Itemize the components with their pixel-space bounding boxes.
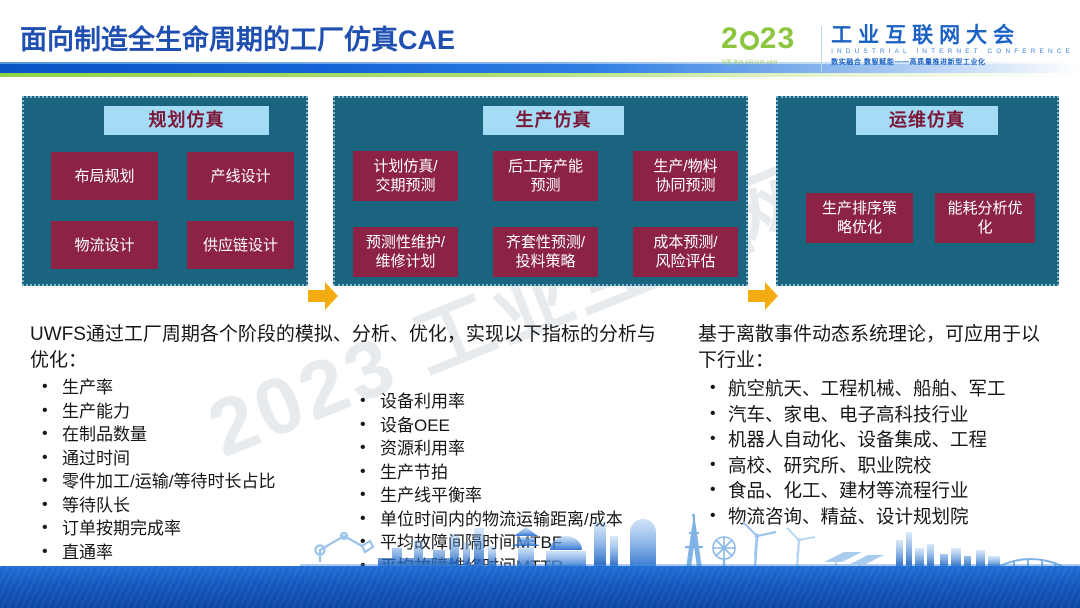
logo-name-block: 工业互联网大会 INDUSTRIAL INTERNET CONFERENCE 数… xyxy=(831,24,1074,68)
robot-arm-icon xyxy=(316,533,374,562)
panel-cell: 供应链设计 xyxy=(187,221,294,269)
panel-title: 规划仿真 xyxy=(104,106,269,135)
industries-lead: 基于离散事件动态系统理论，可应用于以下行业： xyxy=(698,322,1058,374)
list-item: 设备利用率 xyxy=(348,390,688,414)
list-item: 生产能力 xyxy=(30,400,360,424)
list-item: 机器人自动化、设备集成、工程 xyxy=(698,427,1058,453)
arch-tower-icon xyxy=(630,519,656,568)
slide-root: 面向制造全生命周期的工厂仿真CAE 223 中国·苏州 6月16日-18日 工业… xyxy=(0,0,1080,608)
logo-divider xyxy=(821,26,822,72)
footer-band xyxy=(0,566,1080,608)
panel-planning-simulation: 规划仿真 布局规划 产线设计 物流设计 供应链设计 xyxy=(22,96,308,286)
panel-cell: 生产排序策略优化 xyxy=(806,193,913,243)
logo-name-en: INDUSTRIAL INTERNET CONFERENCE xyxy=(831,47,1074,57)
logo-year: 223 xyxy=(721,24,813,54)
panel-cell: 计划仿真/交期预测 xyxy=(353,151,458,201)
panel-operations-simulation: 运维仿真 生产排序策略优化 能耗分析优化 xyxy=(776,96,1059,286)
dome-building-icon xyxy=(546,536,586,568)
arrow-right-icon xyxy=(748,282,778,310)
wind-turbine-icon xyxy=(787,528,815,568)
list-item: 高校、研究所、职业院校 xyxy=(698,453,1058,479)
list-item: 零件加工/运输/等待时长占比 xyxy=(30,470,360,494)
list-item: 航空航天、工程机械、船舶、军工 xyxy=(698,376,1058,402)
logo-date: 中国·苏州 6月16日-18日 xyxy=(721,59,813,66)
logo-name-cn: 工业互联网大会 xyxy=(831,24,1074,47)
list-item: 食品、化工、建材等流程行业 xyxy=(698,478,1058,504)
list-item: 通过时间 xyxy=(30,447,360,471)
panel-cell: 后工序产能预测 xyxy=(493,151,598,201)
list-item: 生产节拍 xyxy=(348,461,688,485)
panel-cell: 能耗分析优化 xyxy=(935,193,1035,243)
list-item: 汽车、家电、电子高科技行业 xyxy=(698,402,1058,428)
skyline-icon xyxy=(300,506,1080,568)
logo-year-block: 223 中国·苏州 6月16日-18日 xyxy=(721,24,821,66)
list-item: 生产线平衡率 xyxy=(348,484,688,508)
panel-title: 运维仿真 xyxy=(856,106,998,135)
panel-title: 生产仿真 xyxy=(483,106,624,135)
logo-slogan: 数实融合 数智赋能——高质量推进新型工业化 xyxy=(831,57,1074,68)
radar-icon xyxy=(713,537,735,568)
logo-zero-ring-icon xyxy=(740,31,759,50)
list-item: 资源利用率 xyxy=(348,437,688,461)
slide-header: 面向制造全生命周期的工厂仿真CAE 223 中国·苏州 6月16日-18日 工业… xyxy=(0,0,1080,82)
panel-cell: 产线设计 xyxy=(187,152,294,200)
page-title: 面向制造全生命周期的工厂仿真CAE xyxy=(20,18,455,57)
wind-turbine-icon xyxy=(743,522,776,568)
panel-cell: 齐套性预测/投料策略 xyxy=(493,227,598,277)
panel-cell: 预测性维护/维修计划 xyxy=(353,227,458,277)
pagoda-icon xyxy=(512,527,540,568)
panel-cell: 物流设计 xyxy=(51,221,158,269)
panel-cell: 成本预测/风险评估 xyxy=(633,227,738,277)
process-diagram: 规划仿真 布局规划 产线设计 物流设计 供应链设计 生产仿真 计划仿真/交期预测… xyxy=(0,96,1080,288)
metrics-lead: UWFS通过工厂周期各个阶段的模拟、分析、优化，实现以下指标的分析与优化： xyxy=(30,322,670,374)
list-item: 设备OEE xyxy=(348,414,688,438)
arrow-right-icon xyxy=(308,282,338,310)
panel-production-simulation: 生产仿真 计划仿真/交期预测 后工序产能预测 生产/物料协同预测 预测性维护/维… xyxy=(333,96,748,286)
list-item: 在制品数量 xyxy=(30,423,360,447)
skyline-decoration xyxy=(0,506,1080,568)
eiffel-tower-icon xyxy=(685,514,703,568)
panel-cell: 布局规划 xyxy=(51,152,158,200)
list-item: 生产率 xyxy=(30,376,360,400)
panel-cell: 生产/物料协同预测 xyxy=(633,151,738,201)
conference-logo: 223 中国·苏州 6月16日-18日 工业互联网大会 INDUSTRIAL I… xyxy=(721,24,1074,76)
industries-block: 基于离散事件动态系统理论，可应用于以下行业： 航空航天、工程机械、船舶、军工 汽… xyxy=(698,322,1058,529)
